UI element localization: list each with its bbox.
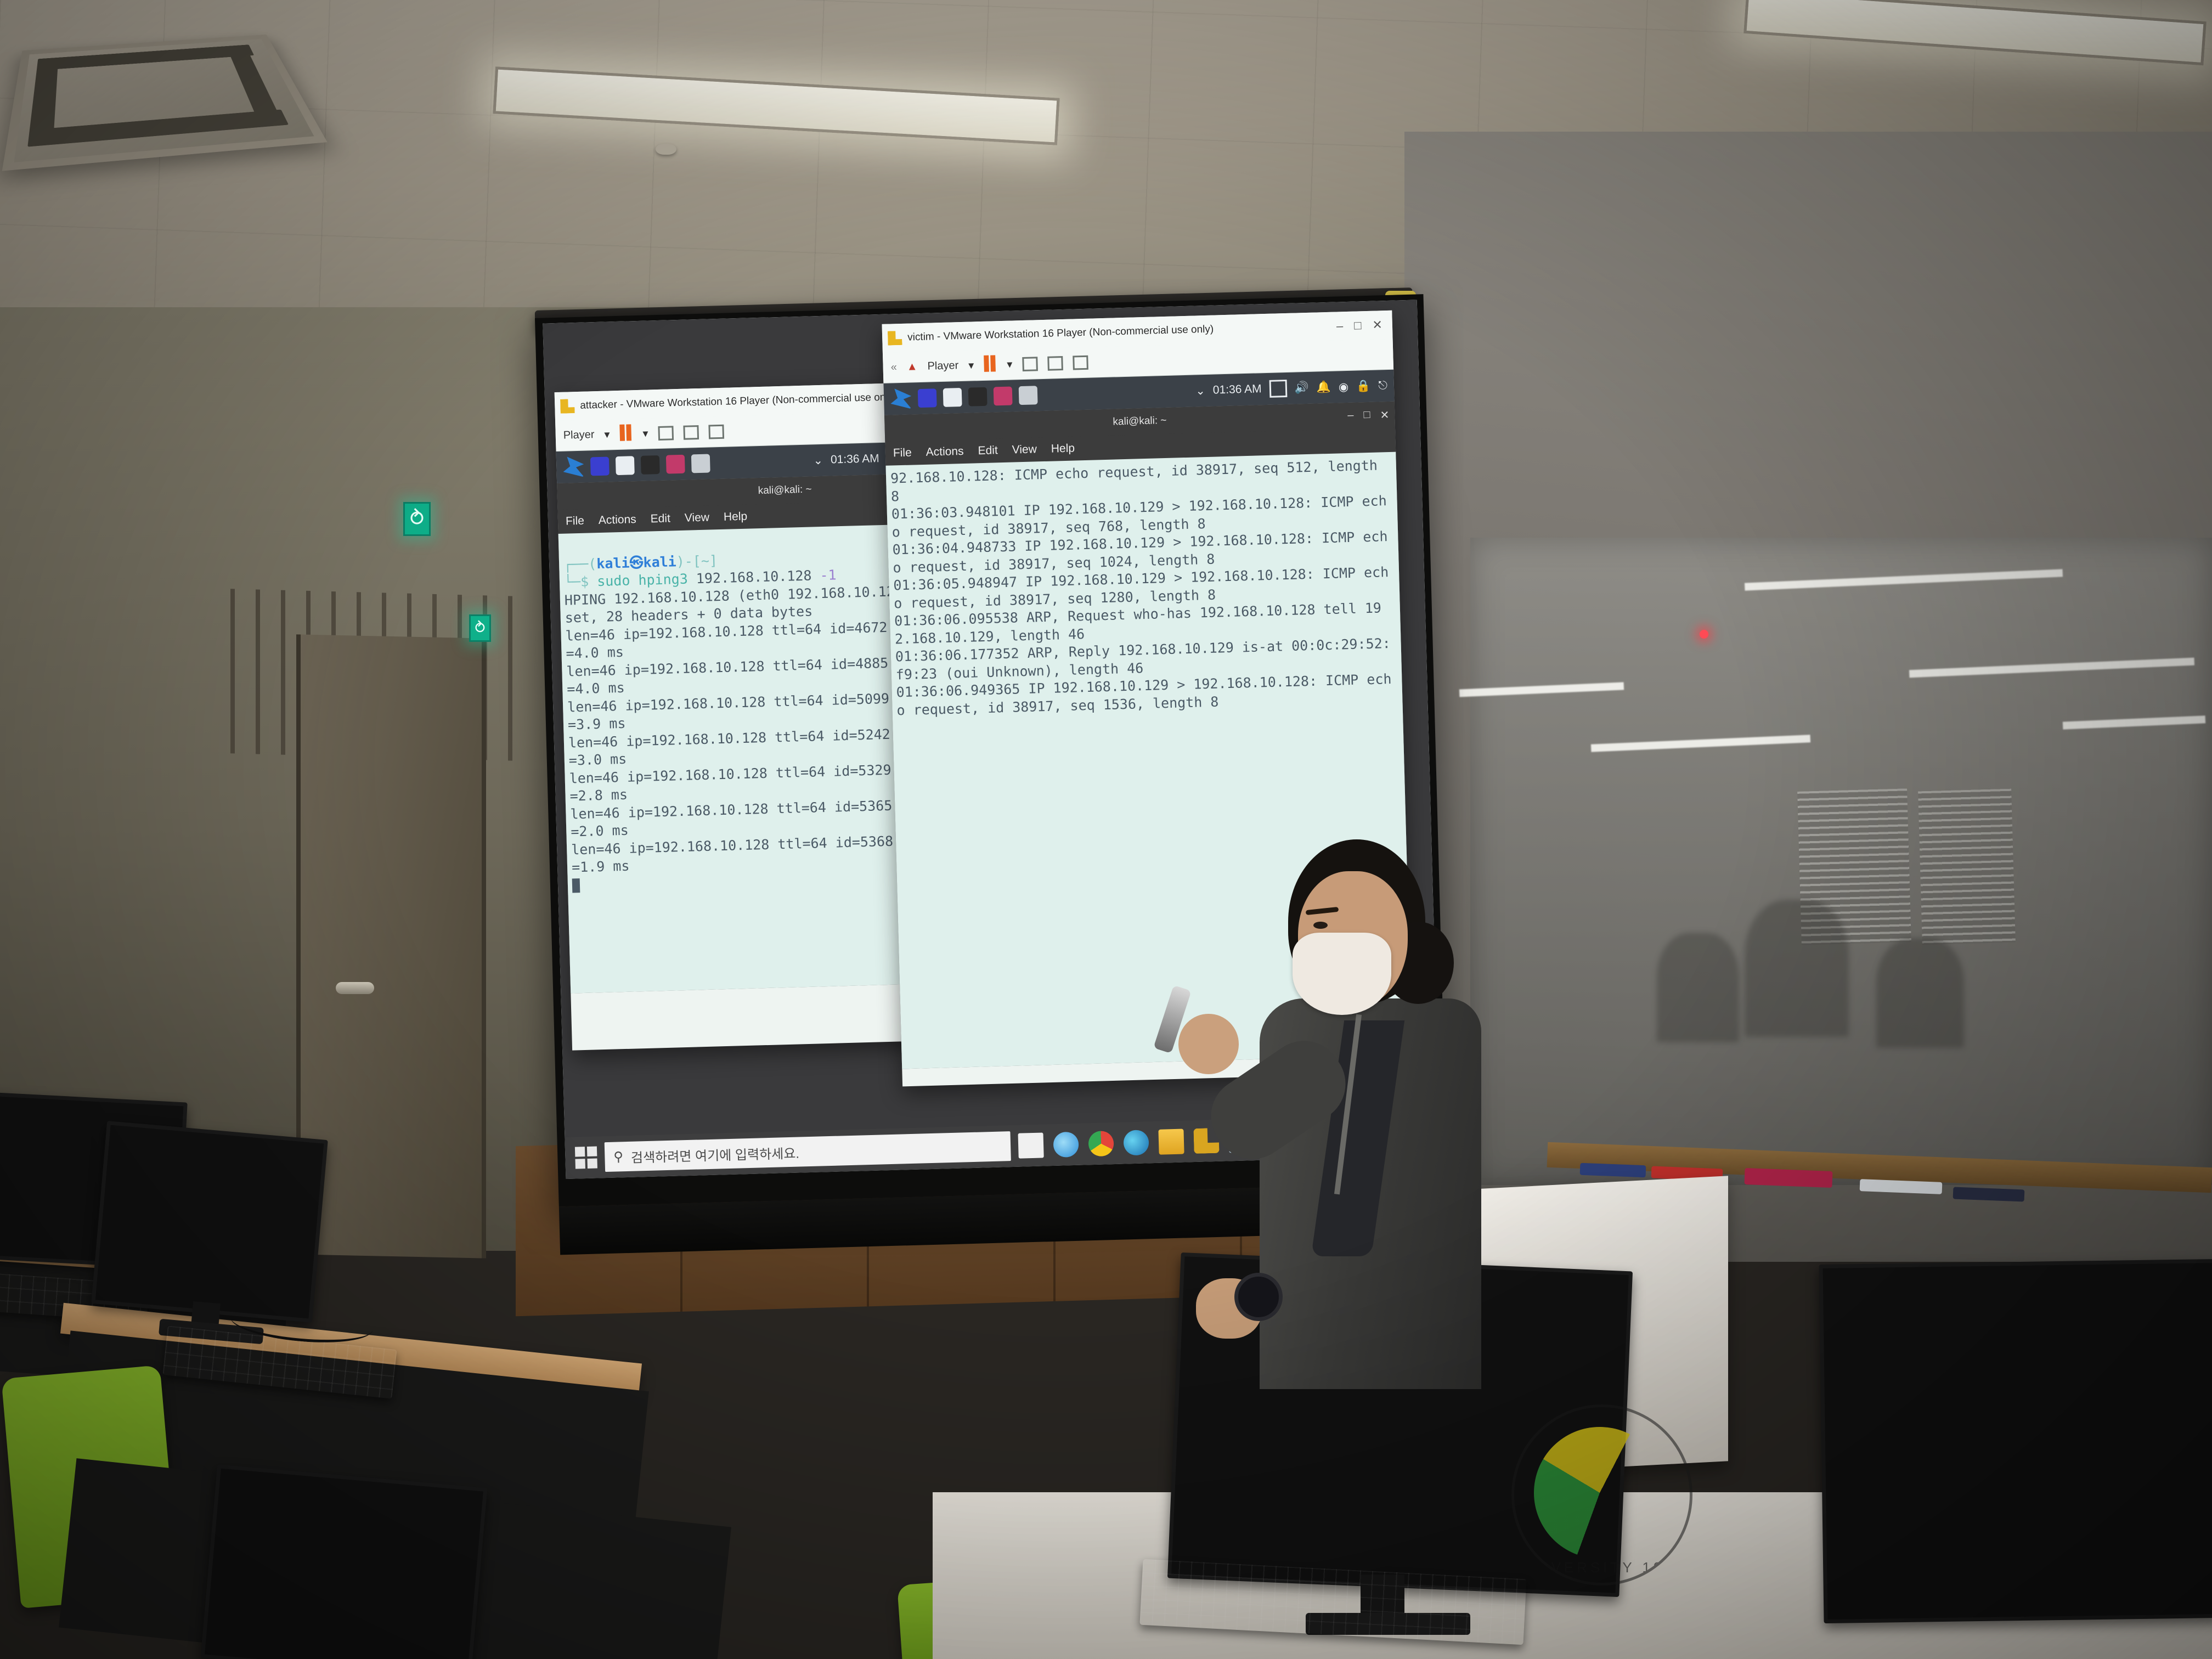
vmware-logo-icon: [560, 399, 575, 414]
exit-sign-glyph: ⥁: [475, 620, 485, 636]
file-manager-icon[interactable]: [616, 456, 635, 475]
prompt-bracket-open: ┌──(: [563, 556, 597, 573]
prompt-dollar: └─$: [564, 573, 597, 590]
full-screen-icon[interactable]: [1047, 356, 1063, 371]
presenter: [1245, 839, 1481, 1388]
smoke-detector: [656, 144, 676, 155]
menu-file[interactable]: File: [893, 447, 912, 460]
terminal-cursor: [572, 878, 580, 893]
full-screen-icon[interactable]: [683, 425, 699, 440]
whiteboard-eraser[interactable]: [1744, 1168, 1832, 1188]
panel-clock[interactable]: 01:36 AM: [1213, 382, 1262, 397]
player-menu-button[interactable]: Player: [927, 359, 958, 373]
panel-clock[interactable]: 01:36 AM: [831, 452, 879, 466]
menu-edit[interactable]: Edit: [650, 512, 670, 526]
student-monitor: [91, 1121, 328, 1323]
terminal-title: kali@kali: ~: [1113, 415, 1167, 428]
chevron-down-icon[interactable]: ▾: [1007, 357, 1013, 371]
kali-clock-area-victim[interactable]: ⌄ 01:36 AM 🔊 🔔 ◉ 🔒 ⎋: [1195, 377, 1388, 399]
prompt-user-host: kali㉿kali: [596, 554, 676, 572]
emergency-exit-sign: ⥁: [403, 502, 431, 536]
power-icon[interactable]: ⎋: [1378, 379, 1387, 392]
chevron-down-icon[interactable]: ▾: [968, 358, 974, 372]
kali-menu-icon[interactable]: [563, 456, 584, 478]
reflected-person-silhouette: [1745, 900, 1849, 1037]
vmware-brand-icon: ▲: [906, 360, 917, 374]
pause-button[interactable]: [984, 355, 997, 375]
terminal-icon[interactable]: [968, 387, 988, 407]
exit-sign-glyph: ⥁: [410, 509, 424, 529]
start-button[interactable]: [575, 1146, 597, 1169]
terminal-window-controls-victim[interactable]: – □ ✕: [1347, 408, 1390, 422]
text-editor-icon[interactable]: [1019, 386, 1038, 405]
student-monitor: [1819, 1259, 2212, 1623]
menu-actions[interactable]: Actions: [599, 513, 636, 527]
menu-help[interactable]: Help: [724, 510, 748, 524]
vmware-logo-icon: [888, 331, 902, 346]
window-title-attacker: attacker - VMware Workstation 16 Player …: [580, 391, 897, 412]
menu-view[interactable]: View: [685, 511, 710, 525]
player-menu-button[interactable]: Player: [563, 428, 595, 442]
emergency-exit-sign: ⥁: [469, 614, 491, 642]
cmd-target: 192.168.10.128: [696, 568, 811, 587]
presenter-eye: [1313, 922, 1328, 929]
seal-text: UNIVERSITY 1956: [1517, 1559, 1688, 1583]
detach-icon[interactable]: [708, 424, 724, 439]
browser-icon[interactable]: [994, 387, 1013, 406]
internet-explorer-icon[interactable]: [1053, 1132, 1079, 1158]
maximize-button[interactable]: □: [1354, 318, 1362, 332]
browser-icon[interactable]: [666, 455, 685, 474]
whiteboard-marker[interactable]: [1580, 1163, 1646, 1178]
cmd-flag: -1: [820, 567, 837, 583]
minimize-button[interactable]: –: [1336, 319, 1344, 333]
unity-mode-icon[interactable]: [1022, 357, 1038, 371]
window-title-victim: victim - VMware Workstation 16 Player (N…: [907, 324, 1214, 344]
lock-icon[interactable]: 🔒: [1356, 380, 1371, 393]
workspace-icon[interactable]: [590, 456, 610, 476]
close-button[interactable]: ✕: [1372, 318, 1383, 332]
reflected-person-silhouette: [1876, 938, 1964, 1048]
chevron-down-icon[interactable]: ⌄: [813, 453, 823, 467]
volume-icon[interactable]: 🔊: [1294, 381, 1309, 395]
menu-file[interactable]: File: [566, 515, 584, 528]
file-manager-icon[interactable]: [943, 388, 962, 407]
chevron-down-icon[interactable]: ▾: [642, 426, 648, 440]
window-controls-victim[interactable]: – □ ✕: [1336, 318, 1387, 333]
pause-button[interactable]: [619, 424, 633, 444]
search-placeholder-text: 검색하려면 여기에 입력하세요.: [630, 1142, 799, 1166]
presenter-wristwatch: [1234, 1273, 1283, 1321]
student-monitor: [201, 1464, 488, 1659]
chrome-icon[interactable]: [1088, 1131, 1114, 1156]
cmd-sudo: sudo: [597, 572, 630, 589]
menu-actions[interactable]: Actions: [926, 445, 963, 459]
task-view-icon[interactable]: [1018, 1132, 1044, 1158]
classroom-scene: ⥁ ⥁ attacker - VMware Workstation 16 Pla…: [0, 0, 2212, 1659]
menu-edit[interactable]: Edit: [978, 444, 998, 458]
kali-menu-icon[interactable]: [890, 388, 912, 409]
chevron-down-icon[interactable]: ⌄: [1195, 384, 1205, 398]
detach-icon[interactable]: [1073, 355, 1088, 370]
file-explorer-icon[interactable]: [1158, 1129, 1184, 1155]
text-editor-icon[interactable]: [691, 454, 710, 473]
display-icon[interactable]: [1269, 380, 1287, 398]
prompt-cwd: )-[~]: [676, 552, 718, 569]
close-button[interactable]: ✕: [1380, 408, 1389, 421]
terminal-title: kali@kali: ~: [758, 483, 812, 497]
search-input[interactable]: ⚲ 검색하려면 여기에 입력하세요.: [605, 1131, 1011, 1172]
cmd-tool: hping3: [638, 571, 688, 588]
search-icon: ⚲: [613, 1149, 623, 1165]
terminal-icon[interactable]: [641, 455, 660, 475]
shield-icon[interactable]: ◉: [1338, 380, 1348, 393]
reflected-person-silhouette: [1657, 933, 1739, 1042]
reflected-window-blinds: [1918, 789, 2016, 945]
chevron-down-icon[interactable]: ▾: [604, 427, 610, 441]
unity-mode-icon[interactable]: [658, 426, 674, 441]
menu-help[interactable]: Help: [1051, 442, 1075, 455]
presenter-hand: [1178, 1014, 1239, 1074]
edge-icon[interactable]: [1123, 1130, 1149, 1155]
workspace-icon[interactable]: [918, 388, 937, 408]
presenter-face-mask: [1293, 933, 1391, 1015]
laser-pointer-dot: [1700, 630, 1708, 639]
university-seal: UNIVERSITY 1956: [1511, 1404, 1692, 1585]
collapse-icon[interactable]: «: [890, 361, 897, 374]
bell-icon[interactable]: 🔔: [1316, 381, 1331, 394]
maximize-button[interactable]: □: [1363, 408, 1370, 422]
door-handle[interactable]: [336, 982, 374, 994]
seal-emblem: [1534, 1427, 1666, 1559]
menu-view[interactable]: View: [1012, 443, 1037, 456]
minimize-button[interactable]: –: [1347, 409, 1354, 422]
